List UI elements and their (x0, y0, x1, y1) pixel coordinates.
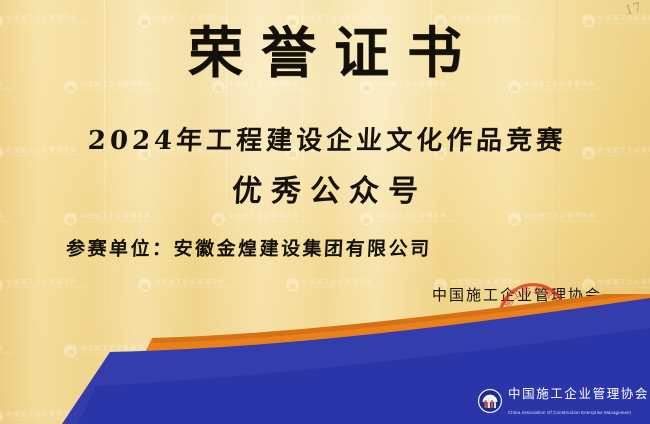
association-emblem-icon (478, 389, 502, 413)
certificate-subtitle-line1: 2024年工程建设企业文化作品竞赛 (0, 128, 650, 154)
certificate-subtitle-line2: 优秀公众号 (0, 177, 650, 207)
certificate-title: 荣誉证书 (0, 26, 650, 81)
association-logo-text: 中国施工企业管理协会 China Association Of Construc… (508, 385, 650, 417)
association-name-en: China Association Of Construction Enterp… (508, 410, 631, 415)
footer-association-logo: 中国施工企业管理协会 China Association Of Construc… (478, 385, 650, 417)
recipient-line: 参赛单位：安徽金煌建设集团有限公司 (66, 240, 433, 259)
certificate-canvas: 中国施工企业管理协会China Association Of Construct… (0, 0, 650, 424)
association-name-cn: 中国施工企业管理协会 (508, 386, 649, 401)
